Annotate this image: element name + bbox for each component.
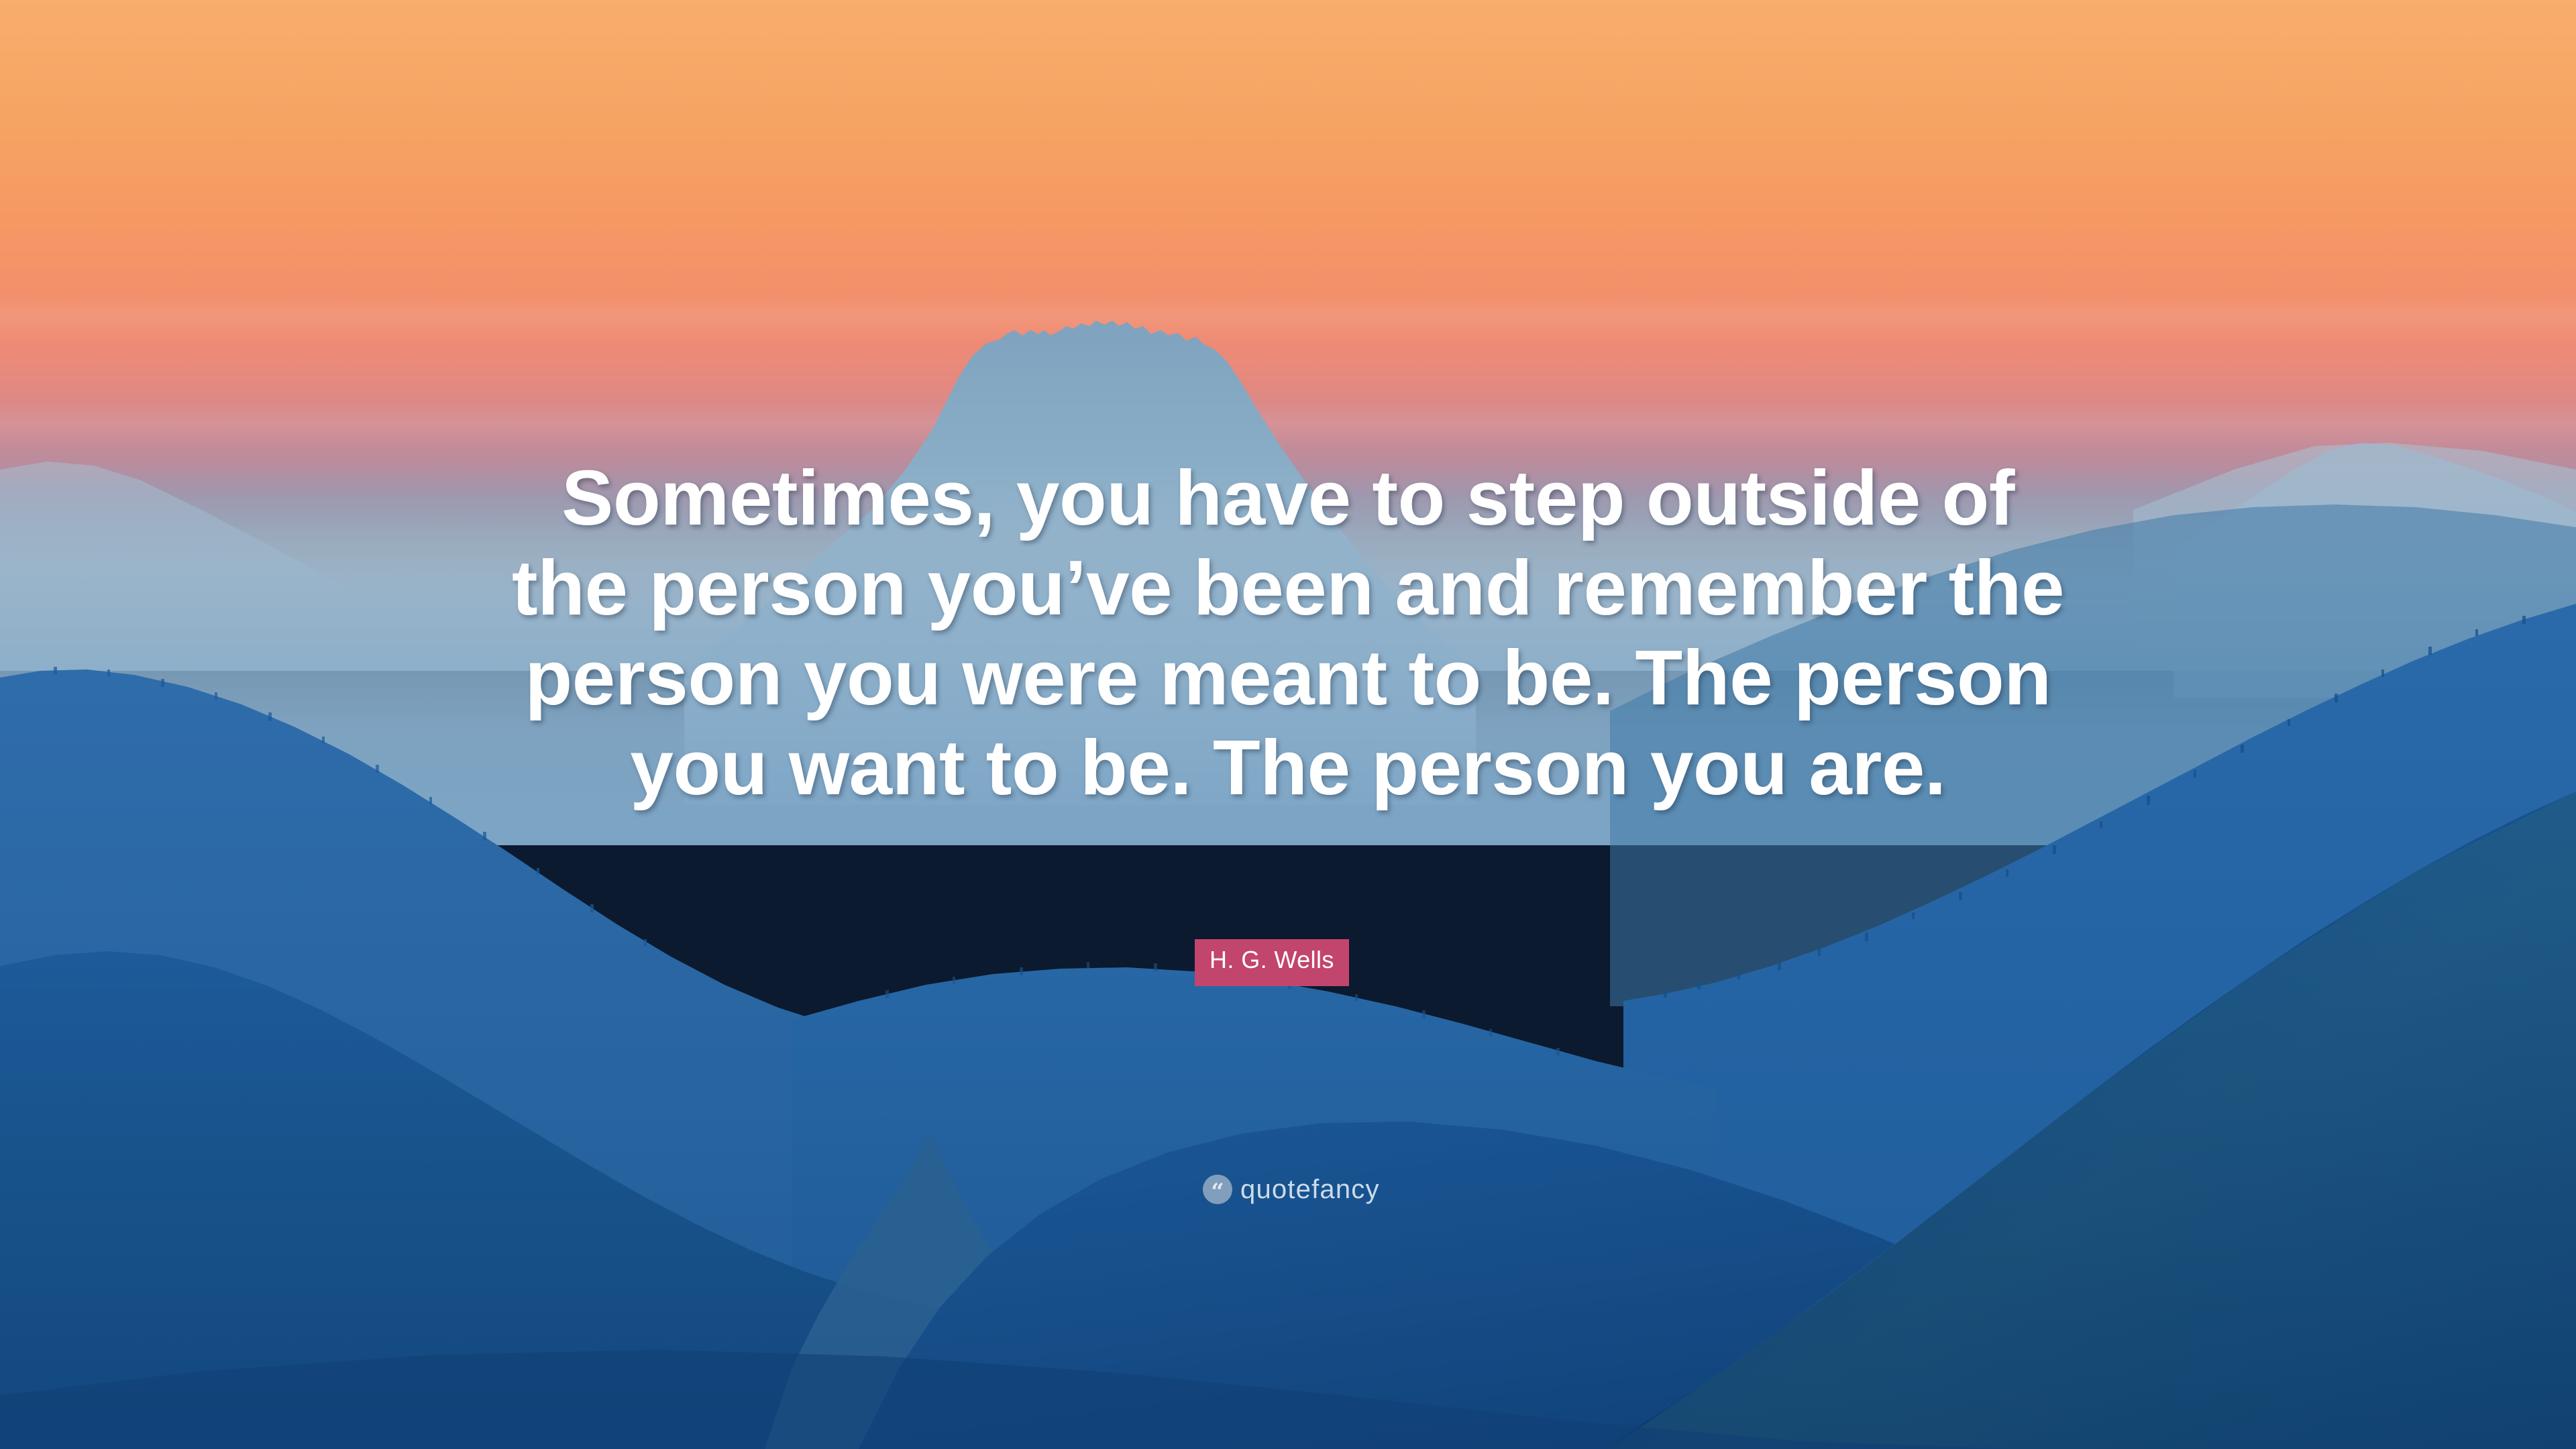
quote-line-3: person you were meant to be. The person	[0, 633, 2576, 722]
author-name-badge[interactable]: H. G. Wells	[1195, 939, 1349, 986]
foreground-green-tint	[1610, 792, 2576, 1449]
quote-line-2: the person you’ve been and remember the	[0, 543, 2576, 633]
quote-line-4: you want to be. The person you are.	[0, 722, 2576, 812]
quote-line-1: Sometimes, you have to step outside of	[0, 453, 2576, 543]
quote-mark-glyph: “	[1211, 1181, 1224, 1203]
quotefancy-wordmark: quotefancy	[1240, 1176, 1380, 1203]
quotefancy-logo[interactable]: “ quotefancy	[1203, 1175, 1380, 1204]
quote-wallpaper: Sometimes, you have to step outside of t…	[0, 0, 2576, 1449]
quote-text: Sometimes, you have to step outside of t…	[0, 453, 2576, 812]
quote-mark-icon: “	[1203, 1175, 1232, 1204]
